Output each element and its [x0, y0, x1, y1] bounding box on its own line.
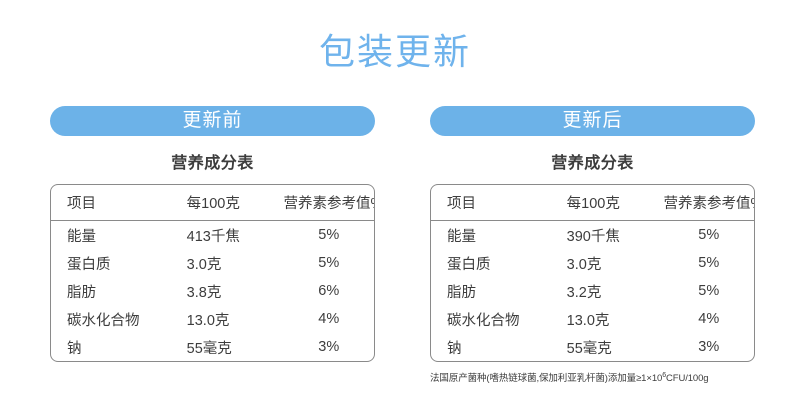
footnote-suffix: CFU/100g: [666, 373, 709, 384]
table-row: 碳水化合物 13.0克 4%: [51, 305, 374, 333]
table-row: 能量 390千焦 5%: [431, 221, 754, 250]
cell-amount: 3.2克: [567, 277, 664, 305]
packaging-update-page: 包装更新 更新前 营养成分表 项目 每100克 营养素参考值%: [0, 0, 790, 403]
cell-amount: 3.0克: [187, 249, 284, 277]
cell-item: 钠: [431, 333, 567, 361]
cell-amount: 3.0克: [567, 249, 664, 277]
cell-amount: 413千焦: [187, 221, 284, 250]
cell-nrv: 5%: [664, 221, 754, 250]
nutrition-table-title-before: 营养成分表: [50, 154, 375, 174]
cell-nrv: 6%: [284, 277, 374, 305]
cell-amount: 3.8克: [187, 277, 284, 305]
cell-item: 碳水化合物: [51, 305, 187, 333]
cell-item: 能量: [51, 221, 187, 250]
footnote-prefix: 法国原产菌种(嗜热链球菌,保加利亚乳杆菌)添加量≥1×10: [430, 373, 662, 384]
panel-header-before: 更新前: [50, 106, 375, 136]
table-row: 碳水化合物 13.0克 4%: [431, 305, 754, 333]
nutrition-table-before: 项目 每100克 营养素参考值% 能量 413千焦 5% 蛋白质: [50, 184, 375, 362]
cell-amount: 13.0克: [567, 305, 664, 333]
table-header-row: 项目 每100克 营养素参考值%: [51, 185, 374, 221]
cell-item: 蛋白质: [51, 249, 187, 277]
cell-nrv: 5%: [664, 277, 754, 305]
column-header-nrv: 营养素参考值%: [664, 185, 754, 221]
column-header-amount: 每100克: [187, 185, 284, 221]
cell-nrv: 4%: [284, 305, 374, 333]
nutrition-table-after: 项目 每100克 营养素参考值% 能量 390千焦 5% 蛋白质: [430, 184, 755, 362]
table-row: 钠 55毫克 3%: [431, 333, 754, 361]
column-header-item: 项目: [51, 185, 187, 221]
table-row: 能量 413千焦 5%: [51, 221, 374, 250]
panel-header-after: 更新后: [430, 106, 755, 136]
table-row: 钠 55毫克 3%: [51, 333, 374, 361]
table-row: 蛋白质 3.0克 5%: [51, 249, 374, 277]
column-header-nrv: 营养素参考值%: [284, 185, 374, 221]
cell-item: 碳水化合物: [431, 305, 567, 333]
panel-before: 更新前 营养成分表 项目 每100克 营养素参考值% 能量 413千: [50, 106, 375, 385]
column-header-amount: 每100克: [567, 185, 664, 221]
cell-nrv: 3%: [284, 333, 374, 361]
cell-nrv: 5%: [284, 249, 374, 277]
cell-amount: 55毫克: [567, 333, 664, 361]
comparison-panels: 更新前 营养成分表 项目 每100克 营养素参考值% 能量 413千: [0, 106, 790, 385]
cell-nrv: 4%: [664, 305, 754, 333]
cell-item: 能量: [431, 221, 567, 250]
cell-amount: 55毫克: [187, 333, 284, 361]
cell-nrv: 5%: [664, 249, 754, 277]
cell-amount: 13.0克: [187, 305, 284, 333]
culture-footnote: 法国原产菌种(嗜热链球菌,保加利亚乳杆菌)添加量≥1×106CFU/100g: [430, 369, 755, 385]
table-row: 脂肪 3.2克 5%: [431, 277, 754, 305]
panel-after: 更新后 营养成分表 项目 每100克 营养素参考值% 能量 390千: [430, 106, 755, 385]
cell-item: 钠: [51, 333, 187, 361]
column-header-item: 项目: [431, 185, 567, 221]
cell-item: 脂肪: [51, 277, 187, 305]
nutrition-table-title-after: 营养成分表: [430, 154, 755, 174]
cell-amount: 390千焦: [567, 221, 664, 250]
cell-item: 脂肪: [431, 277, 567, 305]
cell-nrv: 5%: [284, 221, 374, 250]
page-title: 包装更新: [0, 30, 790, 74]
table-row: 蛋白质 3.0克 5%: [431, 249, 754, 277]
table-header-row: 项目 每100克 营养素参考值%: [431, 185, 754, 221]
cell-nrv: 3%: [664, 333, 754, 361]
table-row: 脂肪 3.8克 6%: [51, 277, 374, 305]
cell-item: 蛋白质: [431, 249, 567, 277]
